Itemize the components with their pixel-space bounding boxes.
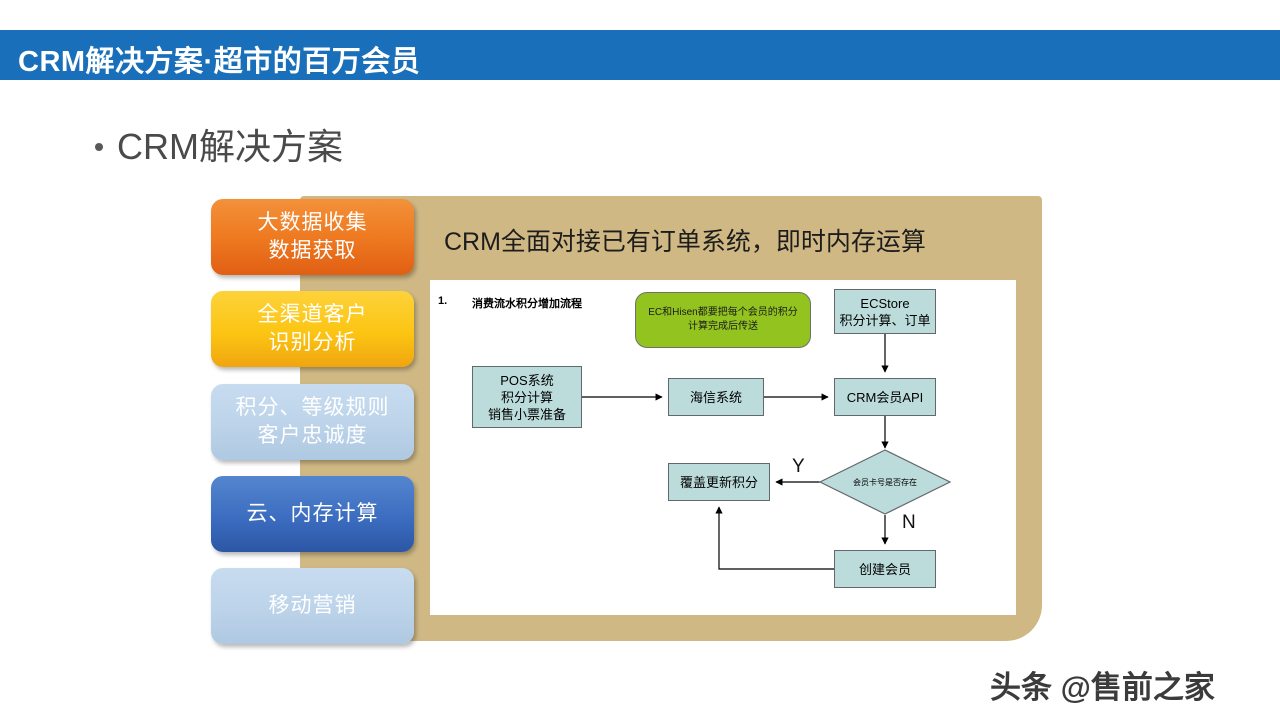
sidebar-item-omnichannel-line2: 识别分析 <box>269 329 357 357</box>
flow-node-update-points: 覆盖更新积分 <box>668 463 770 501</box>
flow-node-haixin: 海信系统 <box>668 378 764 416</box>
flow-note-line1: EC和Hisen都要把每个会员的积分 <box>648 306 797 320</box>
sidebar-item-points-rules-line1: 积分、等级规则 <box>236 394 390 422</box>
flow-node-ecstore-line2: 积分计算、订单 <box>839 312 930 329</box>
flow-node-crm-api: CRM会员API <box>834 378 936 416</box>
watermark: 头条 @售前之家 <box>990 662 1215 707</box>
flow-node-create-member-line1: 创建会员 <box>859 561 911 578</box>
flow-node-haixin-line1: 海信系统 <box>690 389 742 406</box>
sidebar-item-big-data-line2: 数据获取 <box>269 237 357 265</box>
section-heading: CRM解决方案 <box>95 118 343 170</box>
sidebar-item-points-rules-line2: 客户忠诚度 <box>258 422 368 450</box>
sidebar-item-mobile-marketing[interactable]: 移动营销 <box>211 568 414 644</box>
sidebar-item-cloud-memory[interactable]: 云、内存计算 <box>211 476 414 552</box>
flow-node-pos-line2: 积分计算 <box>501 389 553 406</box>
flow-node-pos-line3: 销售小票准备 <box>488 406 566 423</box>
flow-node-ecstore-line1: ECStore <box>860 295 909 312</box>
page-title: CRM解决方案·超市的百万会员 <box>18 38 420 80</box>
slide-canvas: CRM解决方案·超市的百万会员 CRM解决方案 大数据收集 数据获取 全渠道客户… <box>0 0 1280 720</box>
flow-branch-no-label: N <box>902 512 916 534</box>
sidebar-item-big-data-line1: 大数据收集 <box>258 209 368 237</box>
sidebar-item-cloud-memory-line1: 云、内存计算 <box>247 500 379 528</box>
flow-node-decision: 会员卡号是否存在 <box>820 450 950 515</box>
flow-node-ecstore: ECStore 积分计算、订单 <box>834 289 936 334</box>
flow-branch-yes-label: Y <box>792 456 805 478</box>
sidebar-item-big-data[interactable]: 大数据收集 数据获取 <box>211 199 414 275</box>
sidebar-item-omnichannel[interactable]: 全渠道客户 识别分析 <box>211 291 414 367</box>
flow-node-decision-label: 会员卡号是否存在 <box>820 450 950 515</box>
flowchart-area: 1. 消费流水积分增加流程 <box>430 280 1016 615</box>
sidebar-item-mobile-marketing-line1: 移动营销 <box>269 592 357 620</box>
flow-node-pos: POS系统 积分计算 销售小票准备 <box>472 366 582 428</box>
flow-note-green: EC和Hisen都要把每个会员的积分 计算完成后传送 <box>635 292 811 348</box>
flow-node-crm-api-line1: CRM会员API <box>847 389 924 406</box>
flow-note-line2: 计算完成后传送 <box>688 320 758 334</box>
flow-node-create-member: 创建会员 <box>834 550 936 588</box>
flow-node-pos-line1: POS系统 <box>500 372 553 389</box>
panel-heading: CRM全面对接已有订单系统，即时内存运算 <box>444 222 926 258</box>
flow-node-update-points-line1: 覆盖更新积分 <box>680 474 758 491</box>
sidebar-item-omnichannel-line1: 全渠道客户 <box>258 301 368 329</box>
section-heading-label: CRM解决方案 <box>117 118 343 170</box>
sidebar-item-points-rules[interactable]: 积分、等级规则 客户忠诚度 <box>211 384 414 460</box>
bullet-dot-icon <box>95 143 103 151</box>
